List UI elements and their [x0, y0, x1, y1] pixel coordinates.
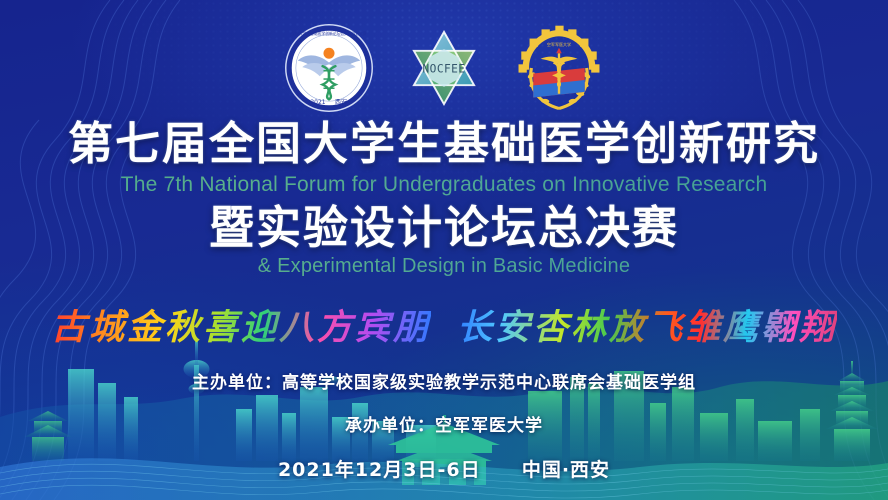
svg-text:全国大学生基础医学创新论坛暨实验设计大赛: 全国大学生基础医学创新论坛暨实验设计大赛 — [291, 31, 367, 36]
sub-title-cn: 暨实验设计论坛总决赛 — [0, 204, 888, 252]
date-location-line: 2021年12月3日-6日 中国·西安 — [0, 455, 888, 482]
slogan-phrase-2: 长安杏林放飞雏鹰翱翔 — [457, 299, 837, 350]
event-dates: 2021年12月3日-6日 — [278, 459, 481, 481]
sub-title-en: & Experimental Design in Basic Medicine — [0, 254, 888, 279]
host-line: 承办单位：空军军医大学 — [0, 411, 888, 436]
main-title-en: The 7th National Forum for Undergraduate… — [0, 172, 888, 198]
svg-text:空军军医大学: 空军军医大学 — [547, 41, 571, 47]
svg-text:西安: 西安 — [335, 98, 347, 106]
conference-poster: 全国大学生基础医学创新论坛暨实验设计大赛 2021 西安 — [0, 0, 888, 500]
slogan-phrase-1: 古城金秋喜迎八方宾朋 — [51, 299, 431, 350]
competition-emblem-logo: 全国大学生基础医学创新论坛暨实验设计大赛 2021 西安 — [283, 22, 375, 119]
event-location: 中国·西安 — [522, 459, 610, 481]
nocfee-logo: NOCFEE — [401, 25, 487, 116]
svg-text:NOCFEE: NOCFEE — [423, 62, 466, 75]
logo-row: 全国大学生基础医学创新论坛暨实验设计大赛 2021 西安 — [0, 22, 888, 119]
calligraphy-slogan: 古城金秋喜迎八方宾朋 长安杏林放飞雏鹰翱翔 — [0, 299, 888, 350]
poster-text-block: 第七届全国大学生基础医学创新研究 The 7th National Forum … — [0, 120, 888, 482]
main-title-cn: 第七届全国大学生基础医学创新研究 — [0, 120, 888, 168]
air-force-medical-university-emblem-logo: 空军军医大学 — [513, 22, 605, 119]
svg-text:2021: 2021 — [310, 99, 325, 106]
organizer-line: 主办单位：高等学校国家级实验教学示范中心联席会基础医学组 — [0, 368, 888, 393]
